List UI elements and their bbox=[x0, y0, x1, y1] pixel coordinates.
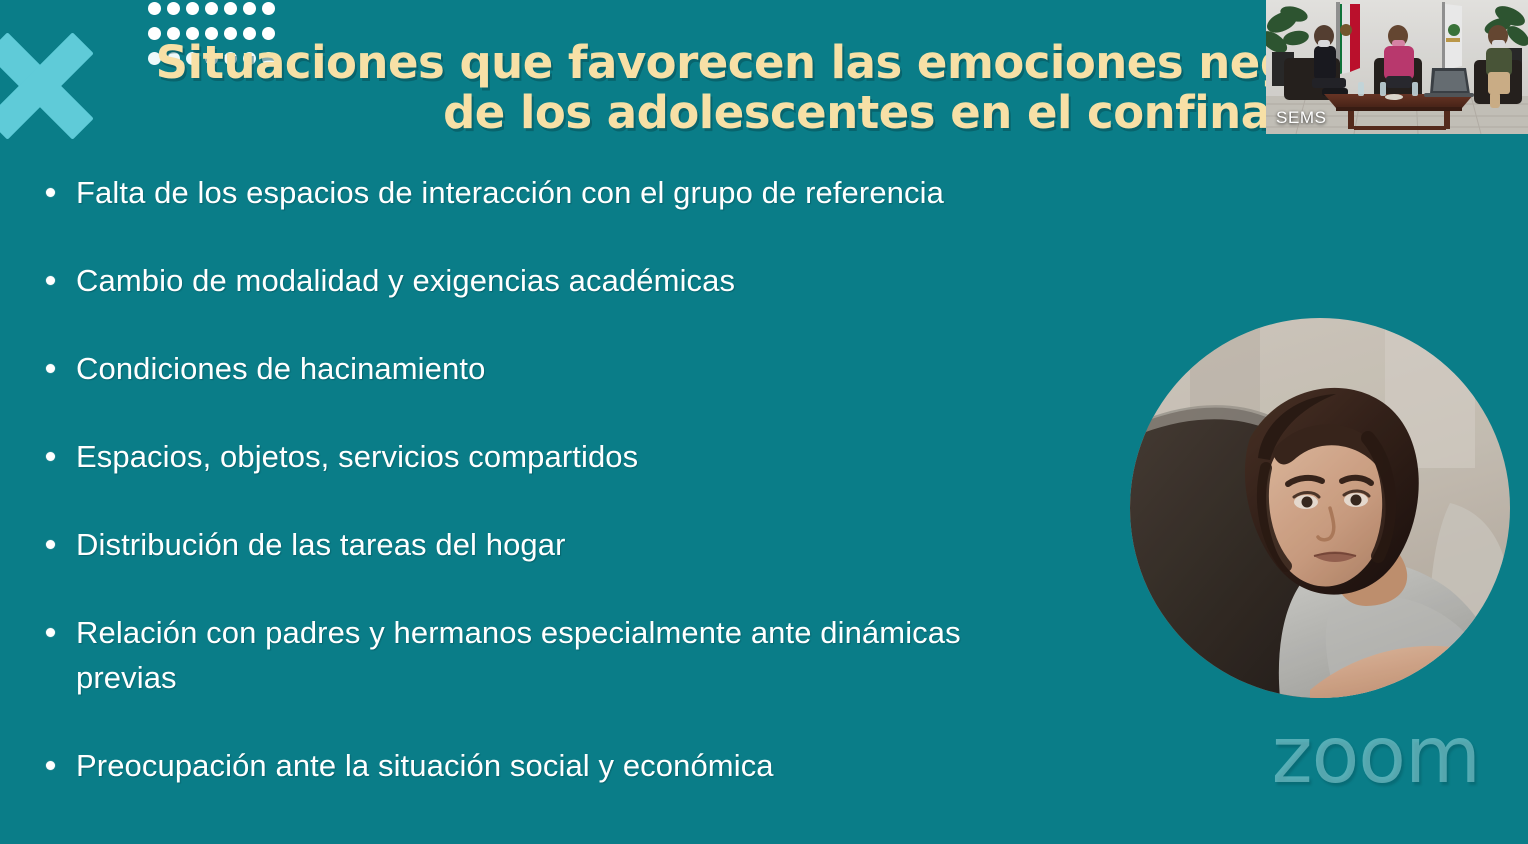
list-item: Falta de los espacios de interacción con… bbox=[46, 170, 1136, 215]
zoom-screen-share-slide: Situaciones que favorecen las emociones … bbox=[0, 0, 1528, 844]
zoom-watermark: zoom bbox=[1272, 716, 1480, 796]
bullet-dot-icon bbox=[46, 761, 55, 770]
list-item: Distribución de las tareas del hogar bbox=[46, 522, 1136, 567]
list-item-label: Falta de los espacios de interacción con… bbox=[76, 170, 944, 215]
slide-photo-woman-resting bbox=[1130, 318, 1510, 698]
list-item-label: Preocupación ante la situación social y … bbox=[76, 743, 774, 788]
bullet-dot-icon bbox=[46, 628, 55, 637]
list-item-label: Cambio de modalidad y exigencias académi… bbox=[76, 258, 735, 303]
list-item: Espacios, objetos, servicios compartidos bbox=[46, 434, 1136, 479]
slide-bullet-list: Falta de los espacios de interacción con… bbox=[46, 170, 1136, 831]
list-item-label: Espacios, objetos, servicios compartidos bbox=[76, 434, 638, 479]
participant-name-label: SEMS bbox=[1276, 108, 1327, 128]
bullet-dot-icon bbox=[46, 276, 55, 285]
bullet-dot-icon bbox=[46, 364, 55, 373]
list-item: Relación con padres y hermanos especialm… bbox=[46, 610, 1136, 700]
decorative-x-icon bbox=[0, 30, 96, 142]
list-item-label: Distribución de las tareas del hogar bbox=[76, 522, 566, 567]
bullet-dot-icon bbox=[46, 452, 55, 461]
list-item-label: Condiciones de hacinamiento bbox=[76, 346, 485, 391]
list-item: Condiciones de hacinamiento bbox=[46, 346, 1136, 391]
bullet-dot-icon bbox=[46, 188, 55, 197]
list-item-label: Relación con padres y hermanos especialm… bbox=[76, 610, 1036, 700]
list-item: Cambio de modalidad y exigencias académi… bbox=[46, 258, 1136, 303]
participant-video-tile[interactable]: SEMS bbox=[1266, 0, 1528, 134]
decorative-dot-grid-icon bbox=[148, 2, 281, 77]
list-item: Preocupación ante la situación social y … bbox=[46, 743, 1136, 788]
bullet-dot-icon bbox=[46, 540, 55, 549]
